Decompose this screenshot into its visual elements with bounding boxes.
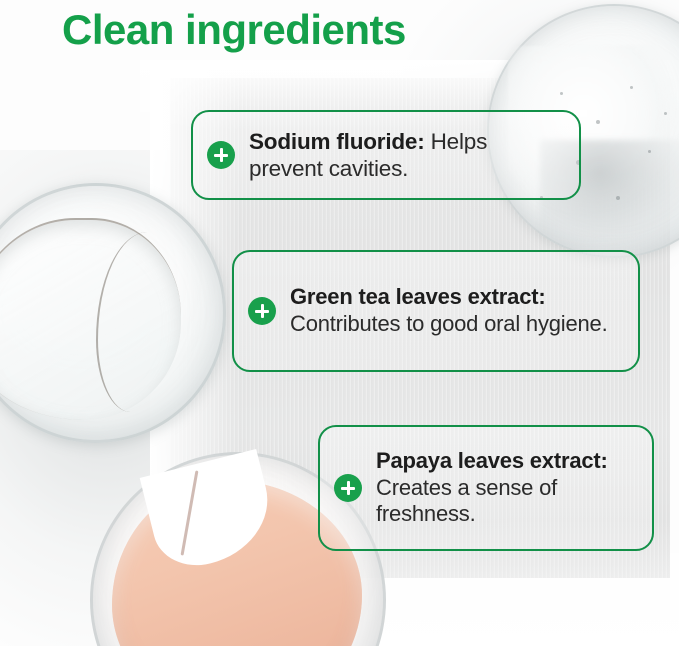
ingredient-card-sodium-fluoride: Sodium fluoride: Helps prevent cavities. [191, 110, 581, 200]
powder-speck [648, 150, 651, 153]
ingredient-term: Papaya leaves extract: [376, 448, 608, 473]
ingredient-term: Green tea leaves extract: [290, 284, 546, 309]
ingredient-card-papaya-leaves-extract: Papaya leaves extract: Creates a sense o… [318, 425, 654, 551]
page-title: Clean ingredients [62, 6, 406, 54]
ingredient-text: Papaya leaves extract: Creates a sense o… [376, 448, 634, 528]
powder-speck [560, 92, 563, 95]
ingredient-text: Green tea leaves extract: Contributes to… [290, 284, 620, 338]
plus-icon [334, 474, 362, 502]
ingredient-term: Sodium fluoride: [249, 129, 425, 154]
ingredient-text: Sodium fluoride: Helps prevent cavities. [249, 128, 561, 183]
ingredient-card-green-tea-leaves-extract: Green tea leaves extract: Contributes to… [232, 250, 640, 372]
powder-speck [630, 86, 633, 89]
powder-speck [616, 196, 620, 200]
ingredient-description: Contributes to good oral hygiene. [290, 311, 608, 336]
ingredient-description: Creates a sense of freshness. [376, 475, 557, 527]
plus-icon [207, 141, 235, 169]
powder-speck [596, 120, 600, 124]
powder-speck [664, 112, 667, 115]
plus-icon [248, 297, 276, 325]
